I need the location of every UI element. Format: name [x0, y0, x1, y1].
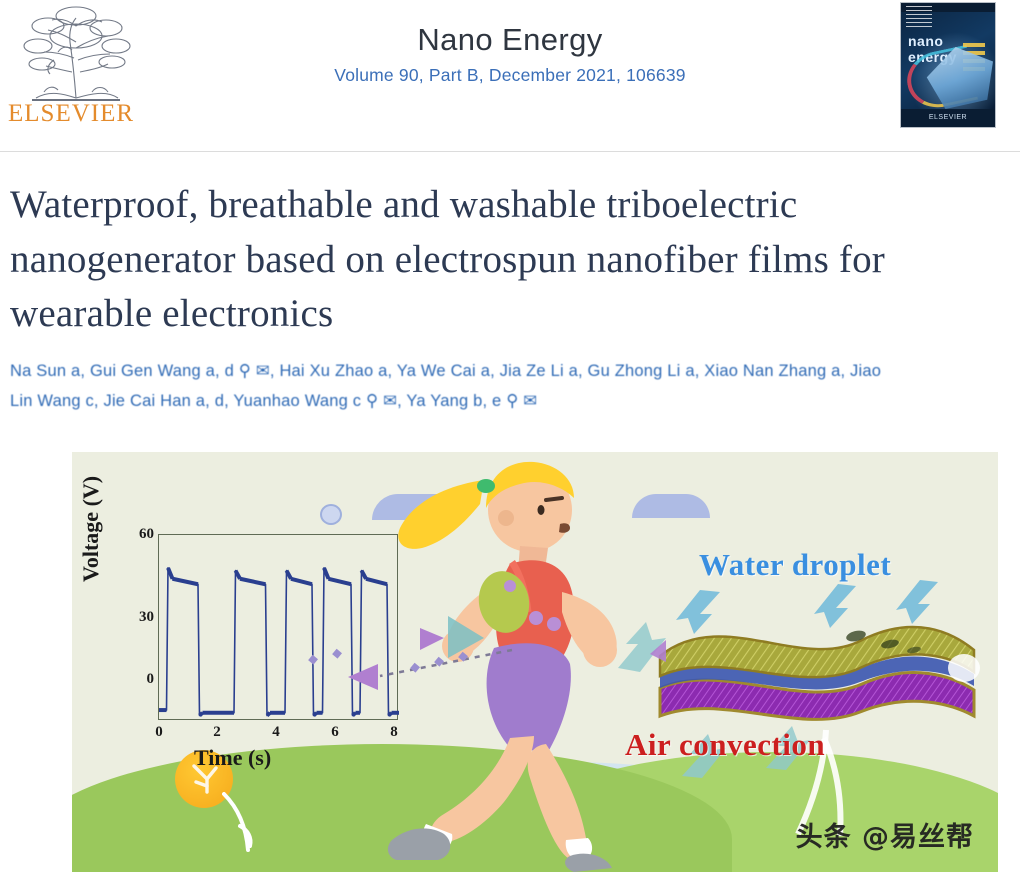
author-line-1[interactable]: Na Sun a, Gui Gen Wang a, d ⚲ ✉, Hai Xu … [10, 356, 1008, 386]
water-arrow-icon [670, 590, 730, 638]
energy-flow-arrow-to-film [402, 614, 512, 660]
chart-y-tick: 0 [124, 671, 154, 688]
journal-info: Nano Energy Volume 90, Part B, December … [0, 22, 1020, 86]
cover-footer-label: ELSEVIER [901, 109, 995, 127]
chart-x-tick: 0 [148, 724, 170, 741]
chart-x-tick: 4 [265, 724, 287, 741]
author-line-2[interactable]: Lin Wang c, Jie Cai Han a, d, Yuanhao Wa… [10, 386, 1008, 416]
watermark-text: 头条 @易丝帮 [796, 815, 974, 854]
graphical-abstract-figure: Voltage (V) Time (s) 60 30 0 0 2 4 6 8 [72, 452, 998, 872]
author-list: Na Sun a, Gui Gen Wang a, d ⚲ ✉, Hai Xu … [10, 356, 1008, 416]
chart-x-tick: 2 [206, 724, 228, 741]
journal-title: Nano Energy [0, 22, 1020, 58]
water-droplet-label: Water droplet [699, 547, 891, 583]
page-title: Waterproof, breathable and washable trib… [10, 178, 1008, 342]
chart-y-tick: 60 [124, 526, 154, 543]
air-convection-label: Air convection [625, 727, 825, 763]
journal-issue: Volume 90, Part B, December 2021, 106639 [0, 65, 1020, 86]
water-arrow-icon [894, 580, 946, 628]
stem-icon [222, 792, 268, 856]
air-arrow-icon [612, 618, 672, 672]
chart-x-axis-label: Time (s) [194, 745, 271, 771]
journal-cover-thumbnail[interactable]: nano energy ELSEVIER [900, 2, 996, 128]
chart-y-axis-label: Voltage (V) [78, 476, 104, 582]
journal-header: ELSEVIER Nano Energy Volume 90, Part B, … [0, 0, 1020, 152]
water-arrow-icon [812, 584, 864, 632]
elsevier-wordmark: ELSEVIER [8, 100, 132, 128]
chart-y-tick: 30 [124, 609, 154, 626]
cover-microtext [906, 6, 932, 28]
